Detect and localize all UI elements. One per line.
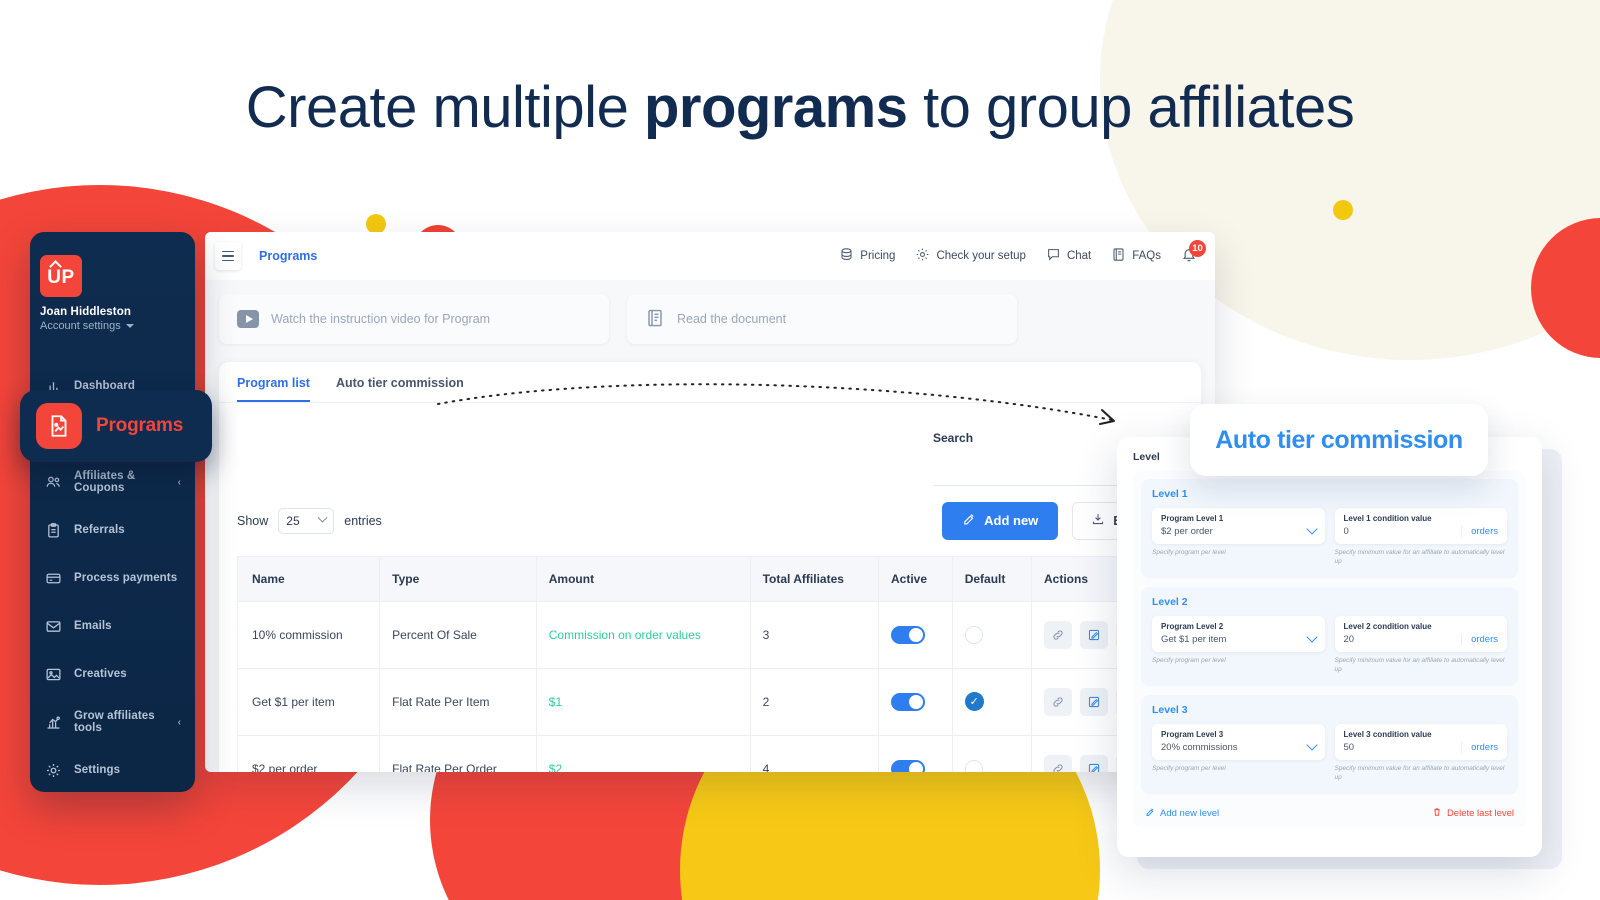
delete-icon [1432, 807, 1442, 820]
add-new-level-label: Add new level [1160, 808, 1219, 819]
level-card-1: Level 1 Program Level 1 $2 per order Spe… [1141, 479, 1518, 578]
level-3-condition-suffix: orders [1461, 742, 1498, 753]
sidebar-label-emails: Emails [74, 620, 112, 632]
table-row: $2 per order Flat Rate Per Order $2 4 [238, 735, 1183, 772]
cell-name: $2 per order [238, 735, 380, 772]
level-3-condition-value: 50 [1344, 742, 1456, 753]
sidebar-item-affiliates-coupons[interactable]: Affiliates & Coupons ‹ [30, 458, 195, 506]
cell-type: Flat Rate Per Item [380, 668, 537, 735]
cell-affiliates: 2 [750, 668, 878, 735]
page-headline: Create multiple programs to group affili… [0, 74, 1600, 141]
level-2-program-inner: Program Level 2 Get $1 per item [1161, 622, 1308, 645]
tab-program-list[interactable]: Program list [237, 376, 310, 402]
col-type: Type [380, 556, 537, 601]
dashboard-content: Watch the instruction video for Program … [205, 280, 1215, 772]
delete-last-level-button[interactable]: Delete last level [1432, 807, 1514, 820]
level-3-program-value: 20% commissions [1161, 742, 1308, 753]
level-2-program-field: Program Level 2 Get $1 per item Specify … [1152, 616, 1325, 675]
gear-icon [915, 247, 930, 265]
headline-bold: programs [644, 75, 908, 140]
active-toggle[interactable] [891, 693, 925, 711]
cell-name: Get $1 per item [238, 668, 380, 735]
level-2-program-value: Get $1 per item [1161, 634, 1308, 645]
credit-card-icon [44, 569, 62, 587]
book-icon [1111, 247, 1126, 265]
logo-text: UP [47, 267, 74, 289]
level-3-condition-inner: Level 3 condition value 50 [1344, 730, 1456, 753]
cell-default: ✓ [952, 668, 1031, 735]
link-icon[interactable] [1044, 755, 1072, 773]
default-radio-selected[interactable]: ✓ [965, 692, 984, 711]
sidebar-item-programs[interactable]: Programs [20, 390, 212, 462]
level-2-condition-value: 20 [1344, 634, 1456, 645]
edit-icon[interactable] [1080, 755, 1108, 773]
delete-last-level-label: Delete last level [1447, 808, 1514, 819]
entries-label: entries [344, 514, 382, 528]
level-3-program-select[interactable]: Program Level 3 20% commissions [1152, 724, 1325, 760]
level-3-program-inner: Program Level 3 20% commissions [1161, 730, 1308, 753]
chevron-left-icon: ‹ [178, 717, 181, 728]
level-1-program-select[interactable]: Program Level 1 $2 per order [1152, 508, 1325, 544]
sidebar-item-emails[interactable]: Emails [30, 602, 195, 650]
level-1-condition-inner: Level 1 condition value 0 [1344, 514, 1456, 537]
dashboard-window: Programs Pricing Check y [205, 232, 1215, 772]
topbar-item-pricing[interactable]: Pricing [839, 247, 895, 265]
level-2-program-help: Specify program per level [1152, 656, 1325, 665]
tab-auto-tier-commission[interactable]: Auto tier commission [336, 376, 464, 402]
level-1-condition-label: Level 1 condition value [1344, 514, 1456, 523]
cell-name: 10% commission [238, 601, 380, 668]
topbar-item-check-setup[interactable]: Check your setup [915, 247, 1026, 265]
auto-tier-commission-panel: Level Level 1 Program Level 1 $2 per ord… [1117, 437, 1542, 857]
hamburger-menu-icon[interactable] [215, 242, 241, 270]
level-1-fields: Program Level 1 $2 per order Specify pro… [1152, 508, 1507, 567]
entries-per-page-select[interactable]: 25 [278, 508, 334, 534]
topbar-item-chat[interactable]: Chat [1046, 247, 1091, 265]
account-settings-dropdown[interactable]: Account settings [40, 320, 195, 332]
breadcrumb[interactable]: Programs [259, 249, 317, 263]
cell-default [952, 601, 1031, 668]
col-default: Default [952, 556, 1031, 601]
top-bar-actions: Pricing Check your setup Chat [839, 247, 1215, 266]
add-new-button[interactable]: Add new [942, 502, 1058, 540]
sidebar-label-grow-affiliates-tools: Grow affiliates tools [74, 710, 166, 734]
col-amount: Amount [536, 556, 750, 601]
chevron-down-icon [126, 324, 134, 328]
level-1-condition-value: 0 [1344, 526, 1456, 537]
sidebar-label-creatives: Creatives [74, 668, 127, 680]
gear-icon [44, 761, 62, 779]
chevron-down-icon [1306, 631, 1317, 642]
cell-amount: $1 [536, 668, 750, 735]
programs-table: Name Type Amount Total Affiliates Active… [237, 556, 1183, 773]
headline-suffix: to group affiliates [907, 75, 1354, 140]
level-2-title: Level 2 [1152, 596, 1507, 608]
level-2-condition-input[interactable]: Level 2 condition value 20 orders [1335, 616, 1508, 652]
topbar-item-faqs[interactable]: FAQs [1111, 247, 1161, 265]
app-logo: UP [40, 255, 82, 297]
level-3-condition-help: Specify minimum value for an affiliate t… [1335, 764, 1508, 783]
topbar-label-check-setup: Check your setup [936, 250, 1026, 262]
show-label: Show [237, 514, 268, 528]
edit-icon[interactable] [1080, 621, 1108, 649]
table-row: 10% commission Percent Of Sale Commissio… [238, 601, 1183, 668]
entries-value: 25 [286, 514, 299, 528]
sidebar-item-creatives[interactable]: Creatives [30, 650, 195, 698]
level-2-program-select[interactable]: Program Level 2 Get $1 per item [1152, 616, 1325, 652]
level-1-condition-field: Level 1 condition value 0 orders Specify… [1335, 508, 1508, 567]
play-icon [237, 310, 259, 328]
sidebar-item-process-payments[interactable]: Process payments [30, 554, 195, 602]
col-active: Active [879, 556, 953, 601]
top-bar: Programs Pricing Check y [205, 232, 1215, 280]
level-2-condition-field: Level 2 condition value 20 orders Specif… [1335, 616, 1508, 675]
sidebar-label-process-payments: Process payments [74, 572, 177, 584]
topbar-label-chat: Chat [1067, 250, 1091, 262]
growth-chart-icon [44, 713, 62, 731]
col-name: Name [238, 556, 380, 601]
col-total-affiliates: Total Affiliates [750, 556, 878, 601]
cell-active [879, 735, 953, 772]
add-new-label: Add new [984, 513, 1038, 528]
help-card-document-label: Read the document [677, 312, 786, 326]
level-3-title: Level 3 [1152, 704, 1507, 716]
notification-bell[interactable]: 10 [1181, 247, 1197, 266]
level-1-program-help: Specify program per level [1152, 548, 1325, 557]
chevron-down-icon [1306, 739, 1317, 750]
program-panel: Program list Auto tier commission Search… [219, 362, 1201, 772]
image-icon [44, 665, 62, 683]
sidebar-item-settings[interactable]: Settings [30, 746, 195, 794]
envelope-icon [44, 617, 62, 635]
level-3-fields: Program Level 3 20% commissions Specify … [1152, 724, 1507, 783]
help-cards-row: Watch the instruction video for Program … [219, 294, 1201, 344]
level-2-condition-suffix: orders [1461, 634, 1498, 645]
active-toggle[interactable] [891, 760, 925, 773]
sidebar: UP Joan Hiddleston Account settings Dash… [30, 232, 195, 792]
link-icon[interactable] [1044, 621, 1072, 649]
yellow-dot-left [366, 214, 386, 234]
add-icon [962, 512, 976, 529]
export-icon [1091, 512, 1105, 529]
panel-tabs: Program list Auto tier commission [219, 362, 1201, 403]
level-1-program-value: $2 per order [1161, 526, 1308, 537]
search-block: Search [219, 403, 1201, 486]
sidebar-item-referrals[interactable]: Referrals [30, 506, 195, 554]
sidebar-item-grow-affiliates-tools[interactable]: Grow affiliates tools ‹ [30, 698, 195, 746]
level-2-condition-help: Specify minimum value for an affiliate t… [1335, 656, 1508, 675]
help-card-document[interactable]: Read the document [627, 294, 1017, 344]
level-3-condition-label: Level 3 condition value [1344, 730, 1456, 739]
level-1-condition-help: Specify minimum value for an affiliate t… [1335, 548, 1508, 567]
level-1-condition-input[interactable]: Level 1 condition value 0 orders [1335, 508, 1508, 544]
active-toggle[interactable] [891, 626, 925, 644]
cell-type: Flat Rate Per Order [380, 735, 537, 772]
edit-icon[interactable] [1080, 688, 1108, 716]
document-icon [645, 308, 665, 331]
cell-type: Percent Of Sale [380, 601, 537, 668]
cell-amount: Commission on order values [536, 601, 750, 668]
level-3-program-label: Program Level 3 [1161, 730, 1308, 739]
table-body: 10% commission Percent Of Sale Commissio… [238, 601, 1183, 772]
cell-active [879, 601, 953, 668]
topbar-label-pricing: Pricing [860, 250, 895, 262]
level-3-condition-field: Level 3 condition value 50 orders Specif… [1335, 724, 1508, 783]
tier-footer: Add new level Delete last level [1141, 803, 1518, 820]
sidebar-label-affiliates-coupons: Affiliates & Coupons [74, 470, 166, 494]
programs-document-icon [36, 403, 82, 449]
account-settings-label: Account settings [40, 320, 121, 332]
sidebar-label-referrals: Referrals [74, 524, 125, 536]
level-1-program-label: Program Level 1 [1161, 514, 1308, 523]
topbar-label-faqs: FAQs [1132, 250, 1161, 262]
level-2-fields: Program Level 2 Get $1 per item Specify … [1152, 616, 1507, 675]
chat-bubble-icon [1046, 247, 1061, 265]
level-2-condition-inner: Level 2 condition value 20 [1344, 622, 1456, 645]
level-1-program-inner: Program Level 1 $2 per order [1161, 514, 1308, 537]
help-card-video-label: Watch the instruction video for Program [271, 312, 490, 326]
headline-prefix: Create multiple [246, 75, 644, 140]
cell-amount: $2 [536, 735, 750, 772]
users-icon [44, 473, 62, 491]
cell-affiliates: 3 [750, 601, 878, 668]
level-2-condition-label: Level 2 condition value [1344, 622, 1456, 631]
yellow-dot-right [1333, 200, 1353, 220]
tier-levels-container: Level 1 Program Level 1 $2 per order Spe… [1133, 471, 1526, 828]
level-1-title: Level 1 [1152, 488, 1507, 500]
sidebar-label-settings: Settings [74, 764, 120, 776]
add-icon [1145, 807, 1155, 820]
chevron-left-icon: ‹ [178, 477, 181, 488]
level-1-program-field: Program Level 1 $2 per order Specify pro… [1152, 508, 1325, 567]
coins-icon [839, 247, 854, 265]
chevron-down-icon [1306, 523, 1317, 534]
chevron-down-icon [318, 513, 328, 523]
cell-active [879, 668, 953, 735]
help-card-video[interactable]: Watch the instruction video for Program [219, 294, 609, 344]
level-1-condition-suffix: orders [1461, 526, 1498, 537]
sidebar-label-programs: Programs [96, 415, 183, 437]
link-icon[interactable] [1044, 688, 1072, 716]
table-row: Get $1 per item Flat Rate Per Item $1 2 … [238, 668, 1183, 735]
level-card-2: Level 2 Program Level 2 Get $1 per item … [1141, 587, 1518, 686]
level-3-condition-input[interactable]: Level 3 condition value 50 orders [1335, 724, 1508, 760]
level-2-program-label: Program Level 2 [1161, 622, 1308, 631]
table-controls: Show 25 entries Add new [219, 486, 1201, 540]
add-new-level-button[interactable]: Add new level [1145, 807, 1219, 820]
auto-tier-commission-badge: Auto tier commission [1190, 404, 1488, 476]
default-radio[interactable] [965, 760, 983, 773]
table-header-row: Name Type Amount Total Affiliates Active… [238, 556, 1183, 601]
user-name: Joan Hiddleston [40, 306, 195, 318]
table-head: Name Type Amount Total Affiliates Active… [238, 556, 1183, 601]
clipboard-icon [44, 521, 62, 539]
default-radio[interactable] [965, 626, 983, 644]
notification-badge: 10 [1189, 240, 1206, 257]
level-card-3: Level 3 Program Level 3 20% commissions … [1141, 695, 1518, 794]
cell-default [952, 735, 1031, 772]
level-3-program-help: Specify program per level [1152, 764, 1325, 773]
level-3-program-field: Program Level 3 20% commissions Specify … [1152, 724, 1325, 783]
cell-affiliates: 4 [750, 735, 878, 772]
